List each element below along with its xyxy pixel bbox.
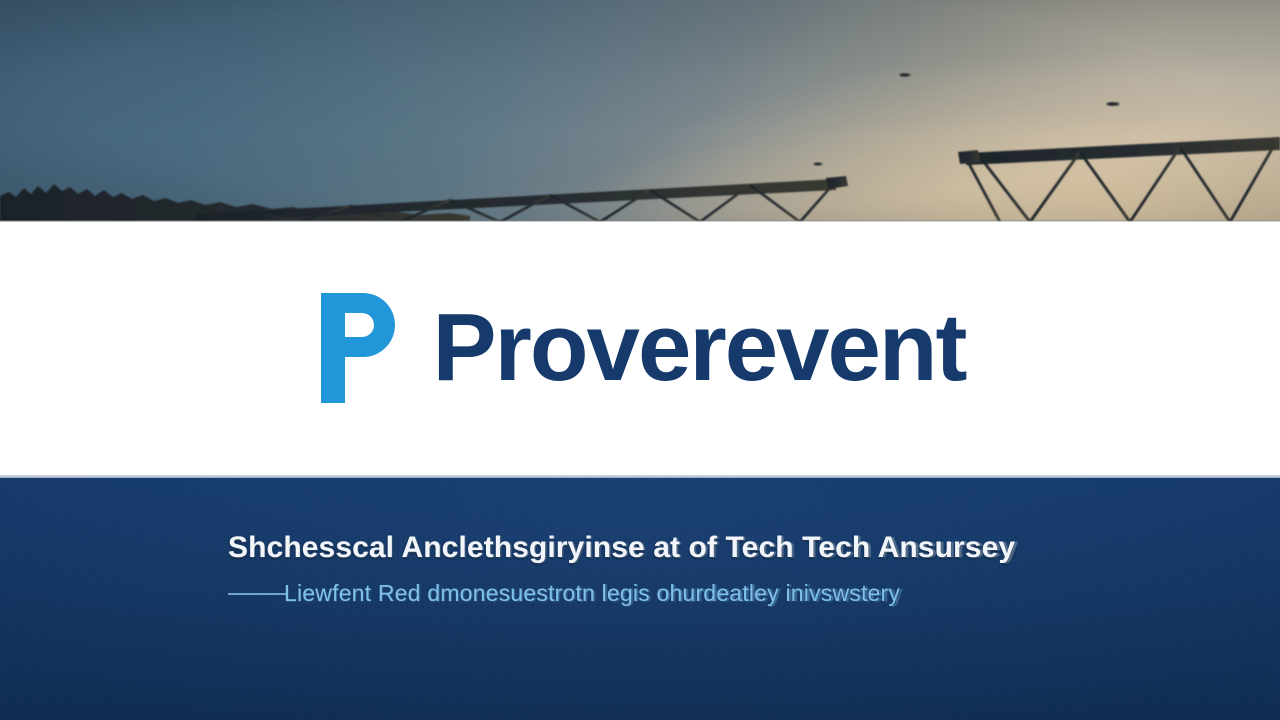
logo-wordmark: Proverevent (433, 300, 966, 396)
banner-subtitle-wrap: Liewfent Red dmonesuestrotn legis ohurde… (228, 576, 1228, 612)
hero-photo-band (0, 0, 1280, 222)
banner-headline: Shchesscal Anclethsgiryinse at of Tech T… (228, 528, 1015, 568)
bridge-icon (0, 0, 1280, 222)
slide-canvas: Proverevent Shchesscal Anclethsgiryinse … (0, 0, 1280, 720)
horizontal-rule-icon (228, 593, 286, 595)
p-logomark-icon (315, 289, 407, 407)
logo-band: Proverevent (0, 222, 1280, 478)
banner-band: Shchesscal Anclethsgiryinse at of Tech T… (0, 478, 1280, 720)
banner-subtitle: Liewfent Red dmonesuestrotn legis ohurde… (284, 576, 900, 610)
banner-headline-wrap: Shchesscal Anclethsgiryinse at of Tech T… (228, 528, 1228, 570)
logo-lockup[interactable]: Proverevent (315, 289, 966, 407)
banner-text-block: Shchesscal Anclethsgiryinse at of Tech T… (228, 528, 1228, 612)
